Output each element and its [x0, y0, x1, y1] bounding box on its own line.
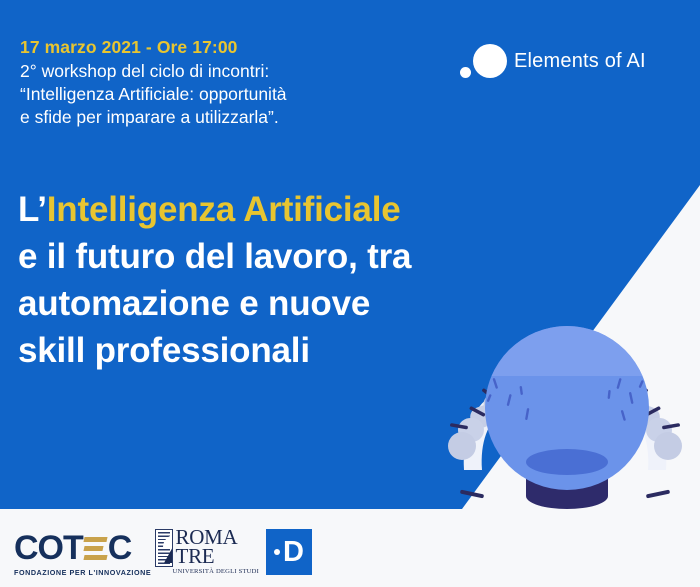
robot-sphere — [480, 320, 660, 490]
roma-tre-subtitle: UNIVERSITÀ DEGLI STUDI — [173, 568, 259, 575]
sponsor-logo-bar: COT C FONDAZIONE PER L'INNOVAZIONE ROMA … — [0, 509, 700, 587]
logo-cotec: COT C FONDAZIONE PER L'INNOVAZIONE — [14, 531, 138, 577]
cotec-e-bars-icon — [84, 536, 107, 560]
headline-line-3: automazione e nuove — [18, 280, 488, 327]
logo-d-letter: D — [283, 538, 304, 567]
logo-d-content: D — [274, 538, 304, 567]
page-title: L’Intelligenza Artificiale e il futuro d… — [18, 186, 488, 374]
cotec-tagline: FONDAZIONE PER L'INNOVAZIONE — [14, 568, 138, 577]
roma-tre-wordmark: ROMA TRE UNIVERSITÀ DEGLI STUDI — [173, 529, 259, 575]
event-intro-block: 17 marzo 2021 - Ore 17:00 2° workshop de… — [20, 36, 440, 129]
event-date: 17 marzo 2021 - Ore 17:00 — [20, 36, 440, 58]
headline-line-2: e il futuro del lavoro, tra — [18, 233, 488, 280]
elements-of-ai-logo: Elements of AI — [458, 38, 646, 84]
event-subtitle-line-2: “Intelligenza Artificiale: opportunità — [20, 83, 440, 106]
elements-of-ai-wordmark: Elements of AI — [514, 50, 646, 73]
poster-canvas: 17 marzo 2021 - Ore 17:00 2° workshop de… — [0, 0, 700, 587]
event-subtitle-line-1: 2° workshop del ciclo di incontri: — [20, 60, 440, 83]
logo-roma-tre: ROMA TRE UNIVERSITÀ DEGLI STUDI — [155, 529, 259, 575]
roma-tre-line-2: TRE — [176, 548, 259, 565]
roma-tre-emblem-icon — [155, 529, 173, 567]
event-subtitle-line-3: e sfide per imparare a utilizzarla”. — [20, 106, 440, 129]
circle-small-icon — [460, 67, 471, 78]
headline-accent: Intelligenza Artificiale — [47, 190, 401, 229]
circle-large-icon — [473, 44, 507, 78]
logo-d-square: D — [266, 529, 312, 575]
headline-line-4: skill professionali — [18, 327, 488, 374]
cotec-wordmark: COT C — [14, 531, 138, 565]
cotec-letters-before: COT — [14, 531, 83, 565]
elements-of-ai-mark — [458, 39, 514, 83]
roma-tre-triangle-icon — [164, 543, 173, 563]
cotec-letters-after: C — [108, 531, 132, 565]
headline-prefix: L’ — [18, 190, 47, 229]
headline-line-1: L’Intelligenza Artificiale — [18, 186, 488, 233]
dot-icon — [274, 549, 280, 555]
roma-tre-words: ROMA TRE — [176, 529, 259, 565]
